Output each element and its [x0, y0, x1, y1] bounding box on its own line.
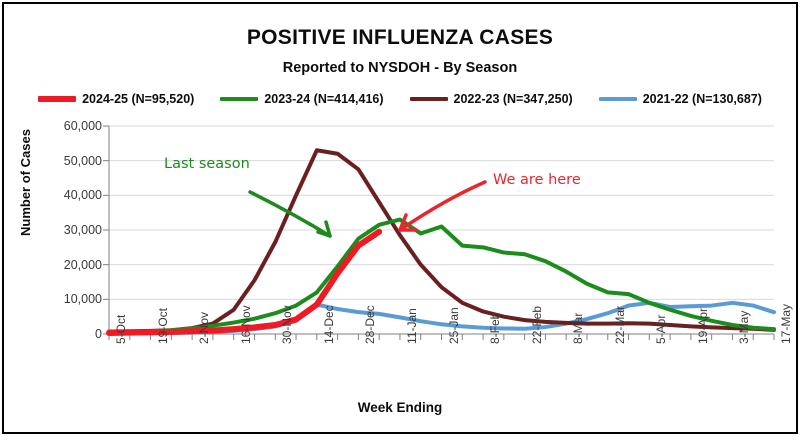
x-axis-tick-label: 30-Nov: [280, 305, 294, 344]
x-axis-tick-label: 11-Jan: [405, 308, 419, 344]
x-axis-tick-label: 19-Oct: [156, 308, 170, 344]
plot-area: 010,00020,00030,00040,00050,00060,0005-O…: [4, 4, 800, 436]
annotation-we-are-here: We are here: [493, 172, 581, 188]
chart-figure: POSITIVE INFLUENZA CASES Reported to NYS…: [2, 2, 798, 434]
y-axis-tick-label: 10,000: [34, 292, 102, 306]
x-axis-tick-label: 28-Dec: [363, 305, 377, 344]
y-axis-tick-label: 60,000: [34, 119, 102, 133]
x-axis-tick-label: 5-Apr: [654, 315, 668, 344]
x-axis-tick-label: 3-May: [737, 311, 751, 344]
x-axis-tick-label: 2-Nov: [197, 312, 211, 344]
x-axis-tick-label: 16-Nov: [239, 305, 253, 344]
x-axis-tick-label: 25-Jan: [447, 307, 461, 344]
x-axis-tick-label: 8-Feb: [488, 313, 502, 344]
y-axis-tick-label: 40,000: [34, 188, 102, 202]
annotation-last-season: Last season: [164, 156, 250, 172]
y-axis-tick-label: 0: [34, 327, 102, 341]
x-axis-tick-label: 14-Dec: [322, 305, 336, 344]
annotation-arrow-last-season: [250, 192, 330, 236]
y-axis-tick-label: 30,000: [34, 223, 102, 237]
y-axis-tick-label: 50,000: [34, 154, 102, 168]
x-axis-tick-label: 17-May: [779, 304, 793, 344]
x-axis-tick-label: 19-Apr: [696, 308, 710, 344]
x-axis-tick-label: 5-Oct: [114, 315, 128, 344]
chart-canvas: [4, 4, 800, 436]
x-axis-tick-label: 22-Feb: [530, 306, 544, 344]
x-axis-tick-label: 22-Mar: [613, 306, 627, 344]
x-axis-tick-label: 8-Mar: [571, 313, 585, 344]
annotation-arrow-we-are-here: [400, 182, 485, 230]
y-axis-tick-label: 20,000: [34, 258, 102, 272]
series-line: [109, 150, 774, 331]
